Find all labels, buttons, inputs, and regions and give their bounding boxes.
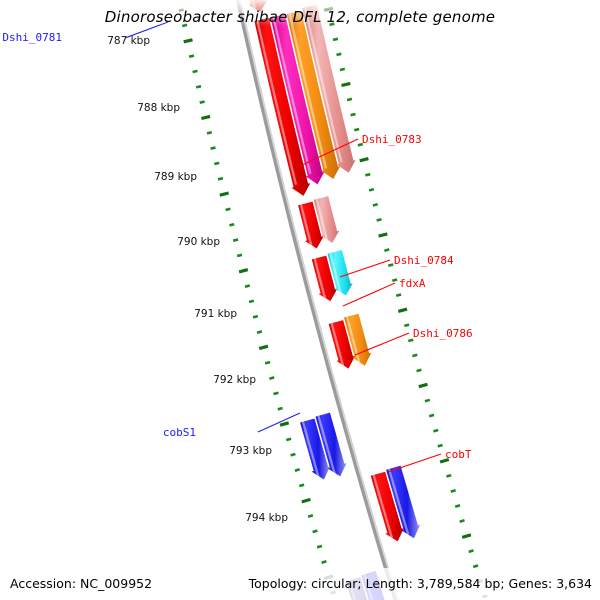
ruler-label: 789 kbp: [154, 171, 197, 183]
genome-map-canvas[interactable]: 787 kbp788 kbp789 kbp790 kbp791 kbp792 k…: [0, 0, 600, 600]
ruler-label: 790 kbp: [177, 236, 220, 248]
accession-text: Accession: NC_009952: [10, 576, 152, 591]
ruler-tick-minor: [347, 99, 352, 100]
ruler-tick-minor: [299, 485, 304, 486]
page-title: Dinoroseobacter shibae DFL 12, complete …: [0, 8, 600, 26]
feature-label-dshi_0783[interactable]: Dshi_0783: [362, 133, 422, 146]
feature-label-cobt[interactable]: cobT: [445, 448, 472, 461]
ruler-tick-minor: [291, 454, 296, 455]
ruler-tick-major: [220, 193, 229, 195]
ruler-tick-minor: [245, 286, 250, 287]
ruler-label: 792 kbp: [213, 374, 256, 386]
ruler-tick-minor: [196, 86, 201, 87]
ruler-tick-minor: [233, 240, 238, 241]
ruler-tick-minor: [469, 550, 474, 552]
feature-label-dshi_0784[interactable]: Dshi_0784: [394, 254, 454, 267]
ruler-tick-major: [360, 159, 369, 161]
ruler-tick-minor: [211, 148, 216, 149]
label-leader-line: [388, 454, 441, 472]
ruler-tick-minor: [253, 316, 258, 317]
ruler-tick-major: [259, 346, 268, 348]
ruler-tick-minor: [412, 355, 417, 356]
ruler-tick-major: [184, 40, 193, 42]
ruler-tick-minor: [313, 531, 318, 532]
ruler-tick-minor: [249, 301, 254, 302]
genome-stats-text: Topology: circular; Length: 3,789,584 bp…: [249, 576, 592, 591]
ruler-tick-minor: [265, 362, 270, 363]
ruler-tick-minor: [365, 174, 370, 175]
ruler-tick-minor: [388, 265, 393, 266]
ruler-tick-major: [398, 309, 407, 311]
ruler-tick-major: [379, 234, 388, 236]
ruler-tick-minor: [207, 132, 212, 133]
ruler-tick-major: [302, 499, 311, 502]
ruler-label: 791 kbp: [194, 308, 237, 320]
ruler-tick-major: [280, 423, 289, 425]
ruler-tick-minor: [404, 325, 409, 326]
ruler-tick-major: [462, 535, 471, 538]
ruler-tick-minor: [237, 255, 242, 256]
ruler-tick-minor: [373, 204, 378, 205]
feature-label-dshi_0781[interactable]: Dshi_0781: [2, 31, 62, 44]
feature-label-dshi_0786[interactable]: Dshi_0786: [413, 327, 473, 340]
ruler-tick-minor: [369, 189, 374, 190]
ruler-tick-major: [201, 116, 210, 118]
ruler-tick-minor: [317, 546, 322, 548]
ruler-tick-minor: [333, 39, 338, 40]
ruler-tick-minor: [308, 515, 313, 516]
label-leader-line: [258, 413, 300, 432]
feature-label-fdxa[interactable]: fdxA: [399, 277, 426, 290]
ruler-tick-minor: [473, 566, 478, 567]
ruler-label: 794 kbp: [245, 512, 288, 524]
feature-label-cobs1[interactable]: cobS1: [163, 426, 196, 439]
ruler-tick-minor: [269, 377, 274, 378]
gene-features-group[interactable]: [180, 0, 453, 600]
ruler-tick-minor: [354, 129, 359, 130]
ruler-tick-minor: [451, 490, 456, 491]
ruler-tick-minor: [438, 445, 443, 446]
ruler-tick-minor: [384, 249, 389, 250]
ruler-tick-minor: [229, 224, 234, 225]
ruler-tick-minor: [455, 505, 460, 506]
ruler-tick-minor: [396, 295, 401, 296]
ruler-tick-major: [342, 83, 351, 85]
ruler-tick-minor: [425, 400, 430, 401]
ruler-tick-major: [419, 384, 428, 386]
ruler-tick-minor: [257, 331, 262, 332]
ruler-tick-minor: [286, 439, 291, 440]
ruler-tick-minor: [193, 71, 198, 72]
ruler-tick-minor: [218, 178, 223, 179]
ruler-tick-minor: [392, 280, 397, 281]
ruler-tick-minor: [295, 469, 300, 470]
ruler-tick-minor: [417, 370, 422, 371]
ruler-tick-minor: [351, 114, 356, 115]
ruler-tick-minor: [340, 69, 345, 70]
ruler-tick-minor: [214, 163, 219, 164]
ruler-tick-minor: [322, 561, 327, 562]
ruler-tick-minor: [189, 56, 194, 57]
label-leader-line: [340, 260, 390, 277]
ruler-tick-minor: [377, 219, 382, 220]
ruler-tick-minor: [274, 393, 279, 394]
feature-labels-group[interactable]: Dshi_0781Dshi_0783Dshi_0784fdxADshi_0786…: [2, 31, 472, 461]
ruler-tick-minor: [433, 430, 438, 431]
ruler-tick-minor: [446, 475, 451, 476]
ruler-tick-minor: [278, 408, 283, 409]
ruler-tick-minor: [200, 102, 205, 103]
ruler-tick-minor: [226, 209, 231, 210]
ruler-tick-minor: [337, 54, 342, 55]
ruler-tick-minor: [460, 520, 465, 521]
ruler-tick-minor: [429, 415, 434, 416]
ruler-label: 793 kbp: [229, 445, 272, 457]
ruler-tick-major: [239, 270, 248, 272]
genome-map-viewer: 787 kbp788 kbp789 kbp790 kbp791 kbp792 k…: [0, 0, 600, 600]
ruler-label: 788 kbp: [137, 102, 180, 114]
